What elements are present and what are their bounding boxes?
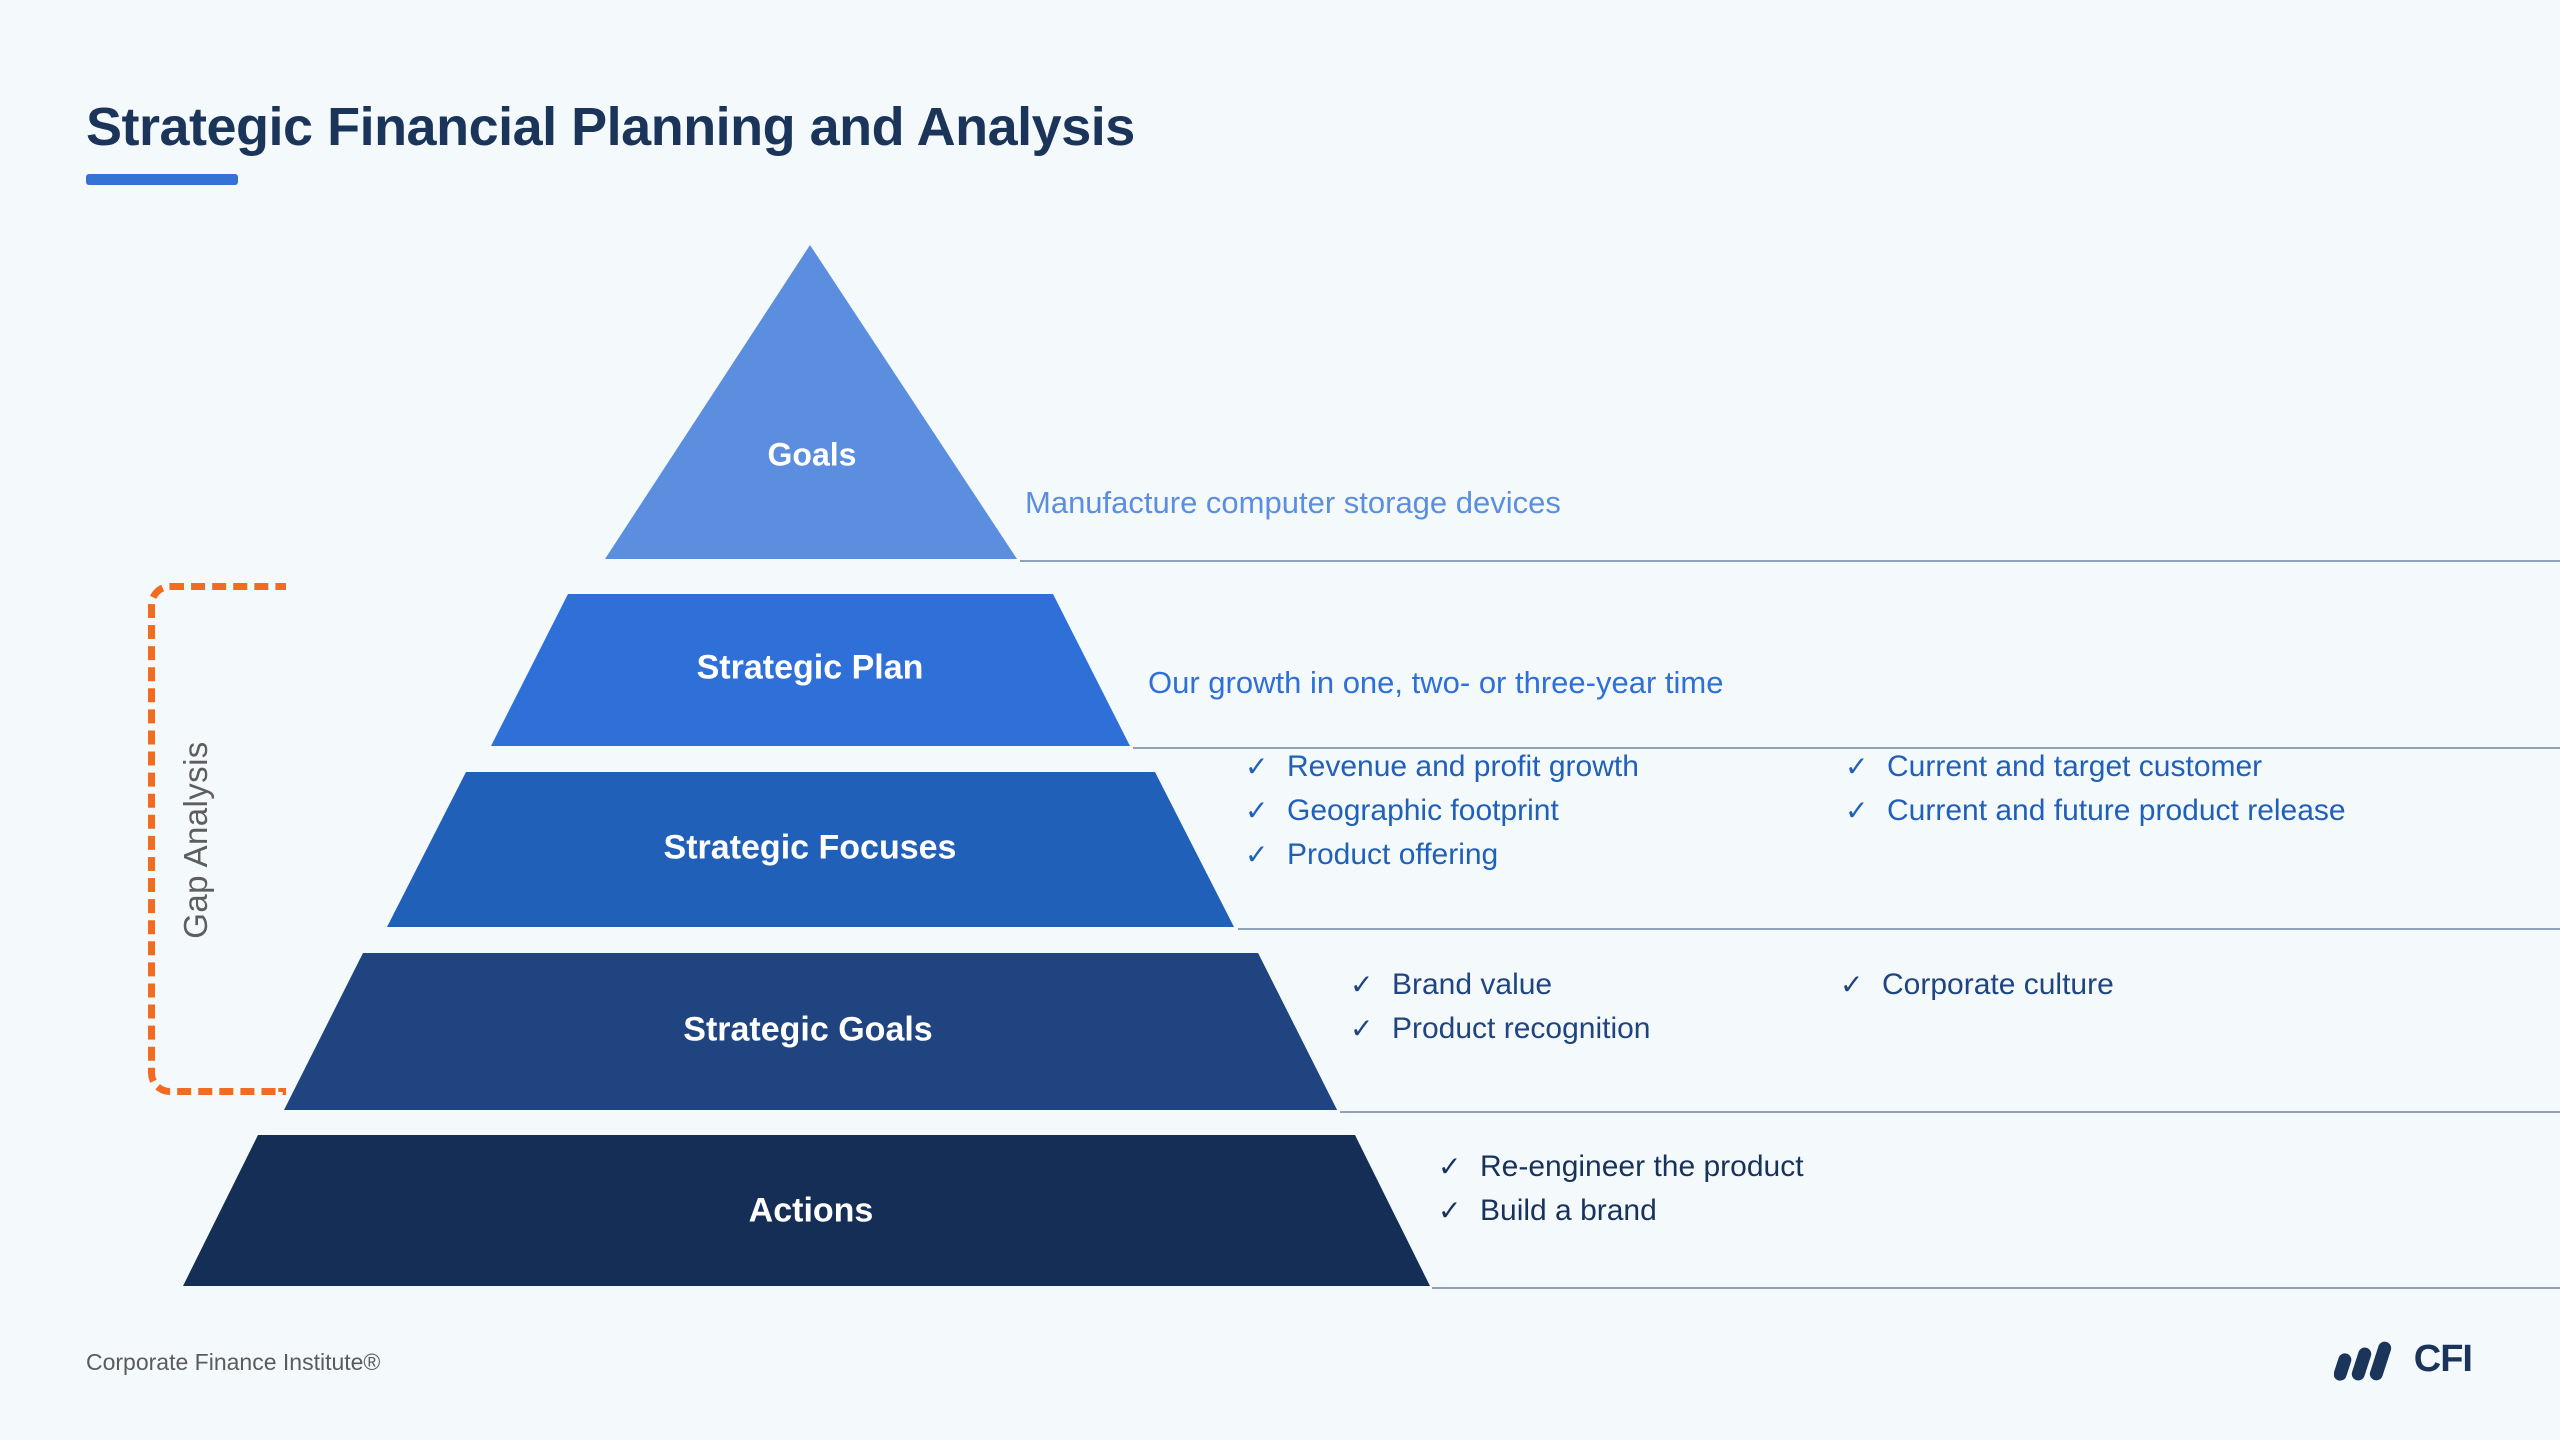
list-item: ✓ Product recognition [1350,1012,1840,1046]
check-icon: ✓ [1845,750,1887,784]
bullet-group-strategic-focuses: ✓ Revenue and profit growth ✓ Geographic… [1245,750,2346,882]
list-item: ✓ Corporate culture [1840,968,2114,1002]
list-item: ✓ Geographic footprint [1245,794,1845,828]
bullet-text: Product recognition [1392,1012,1651,1046]
pyramid-label-goals: Goals [768,437,857,474]
bullet-text: Current and future product release [1887,794,2346,828]
list-item: ✓ Revenue and profit growth [1245,750,1845,784]
check-icon: ✓ [1350,1012,1392,1046]
gap-analysis-bracket [148,583,286,1095]
check-icon: ✓ [1350,968,1392,1002]
list-item: ✓ Current and future product release [1845,794,2346,828]
check-icon: ✓ [1245,838,1287,872]
check-icon: ✓ [1438,1194,1480,1228]
description-strategic-plan: Our growth in one, two- or three-year ti… [1148,665,1723,701]
check-icon: ✓ [1845,794,1887,828]
bullet-text: Brand value [1392,968,1552,1002]
gap-analysis-label: Gap Analysis [177,741,215,938]
bullet-group-strategic-goals: ✓ Brand value ✓ Product recognition ✓ Co… [1350,968,2114,1056]
bullet-text: Product offering [1287,838,1498,872]
pyramid-label-strategic-goals: Strategic Goals [683,1011,932,1050]
check-icon: ✓ [1245,794,1287,828]
bullet-group-actions: ✓ Re-engineer the product ✓ Build a bran… [1438,1150,1804,1238]
pyramid-diagram: Goals Strategic Plan Strategic Focuses S… [0,0,2560,1440]
bullet-text: Corporate culture [1882,968,2114,1002]
cfi-logo: CFI [2334,1337,2472,1381]
bullet-text: Re-engineer the product [1480,1150,1804,1184]
cfi-logo-mark-icon [2334,1337,2404,1381]
bullet-column-right: ✓ Current and target customer ✓ Current … [1845,750,2346,882]
check-icon: ✓ [1438,1150,1480,1184]
cfi-logo-text: CFI [2414,1340,2472,1378]
check-icon: ✓ [1245,750,1287,784]
list-item: ✓ Build a brand [1438,1194,1804,1228]
list-item: ✓ Re-engineer the product [1438,1150,1804,1184]
bullet-column-right: ✓ Corporate culture [1840,968,2114,1056]
pyramid-label-strategic-focuses: Strategic Focuses [664,829,957,868]
bullet-column-left: ✓ Re-engineer the product ✓ Build a bran… [1438,1150,1804,1238]
bullet-text: Current and target customer [1887,750,2262,784]
bullet-text: Build a brand [1480,1194,1657,1228]
pyramid-shapes [0,0,2560,1440]
footer-attribution: Corporate Finance Institute® [86,1349,380,1376]
list-item: ✓ Brand value [1350,968,1840,1002]
list-item: ✓ Current and target customer [1845,750,2346,784]
bullet-text: Revenue and profit growth [1287,750,1639,784]
bullet-column-left: ✓ Brand value ✓ Product recognition [1350,968,1840,1056]
pyramid-label-actions: Actions [749,1192,874,1231]
bullet-text: Geographic footprint [1287,794,1559,828]
bullet-column-left: ✓ Revenue and profit growth ✓ Geographic… [1245,750,1845,882]
pyramid-level-goals[interactable] [605,245,1017,559]
pyramid-label-strategic-plan: Strategic Plan [697,649,924,688]
description-goals: Manufacture computer storage devices [1025,485,1561,521]
check-icon: ✓ [1840,968,1882,1002]
list-item: ✓ Product offering [1245,838,1845,872]
